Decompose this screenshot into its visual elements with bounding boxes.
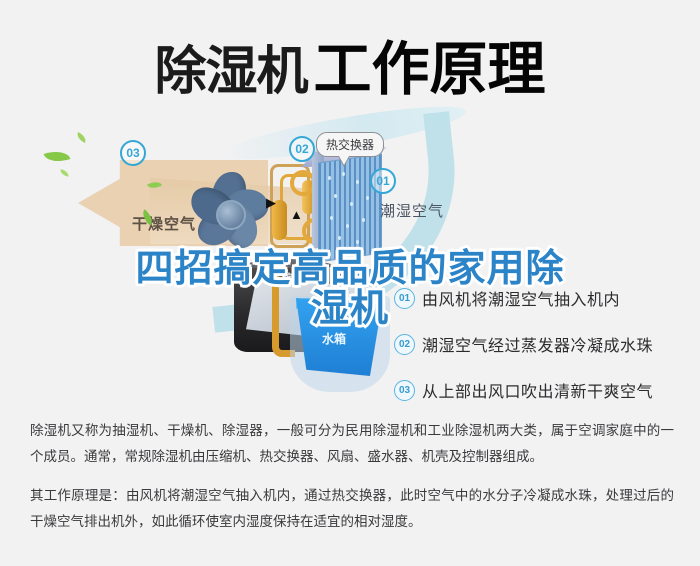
heat-exchanger-callout: 热交换器 <box>316 132 384 157</box>
diagram-badge-02: 02 <box>289 136 315 162</box>
steps-list: 01 由风机将潮湿空气抽入机内 02 潮湿空气经过蒸发器冷凝成水珠 03 从上部… <box>394 286 694 424</box>
paragraph: 除湿机又称为抽湿机、干燥机、除湿器，一般可分为民用除湿机和工业除湿机两大类，属于… <box>30 418 674 471</box>
fan-icon <box>182 166 274 254</box>
step-number: 01 <box>394 288 415 309</box>
article-page: 除湿机工作原理 干燥空气 ▲ <box>0 0 700 566</box>
diagram-badge-01: 01 <box>370 168 396 194</box>
flow-arrow-right-icon: ▶ <box>266 196 276 209</box>
paragraph: 其工作原理是：由风机将潮湿空气抽入机内，通过热交换器，此时空气中的水分子冷凝成水… <box>30 483 674 536</box>
dehumidifier-diagram: 干燥空气 ▲ ▼ ▶ <box>0 118 700 408</box>
compressor-label: 压缩机 <box>270 270 306 286</box>
list-item: 03 从上部出风口吹出清新干爽空气 <box>394 378 694 402</box>
diagram-badge-03: 03 <box>120 140 146 166</box>
step-text: 潮湿空气经过蒸发器冷凝成水珠 <box>422 332 653 356</box>
leaf-icon <box>44 147 71 167</box>
page-title: 除湿机工作原理 <box>0 22 700 106</box>
step-text: 从上部出风口吹出清新干爽空气 <box>422 378 653 402</box>
fan-hub-icon <box>216 200 246 230</box>
page-title-part1: 除湿机 <box>154 42 307 102</box>
step-text: 由风机将潮湿空气抽入机内 <box>422 286 620 310</box>
leaf-icon <box>75 132 88 143</box>
leaf-icon <box>60 169 70 176</box>
list-item: 02 潮湿空气经过蒸发器冷凝成水珠 <box>394 332 694 356</box>
water-tank-label: 水箱 <box>322 330 346 347</box>
humid-air-label: 潮湿空气 <box>380 200 444 221</box>
article-body: 除湿机又称为抽湿机、干燥机、除湿器，一般可分为民用除湿机和工业除湿机两大类，属于… <box>30 418 674 547</box>
page-title-part2: 工作原理 <box>314 35 546 103</box>
condensation-drops-icon <box>322 168 376 248</box>
step-number: 02 <box>394 334 415 355</box>
flow-arrow-up-icon: ▲ <box>290 208 303 221</box>
step-number: 03 <box>394 380 415 401</box>
list-item: 01 由风机将潮湿空气抽入机内 <box>394 286 694 310</box>
